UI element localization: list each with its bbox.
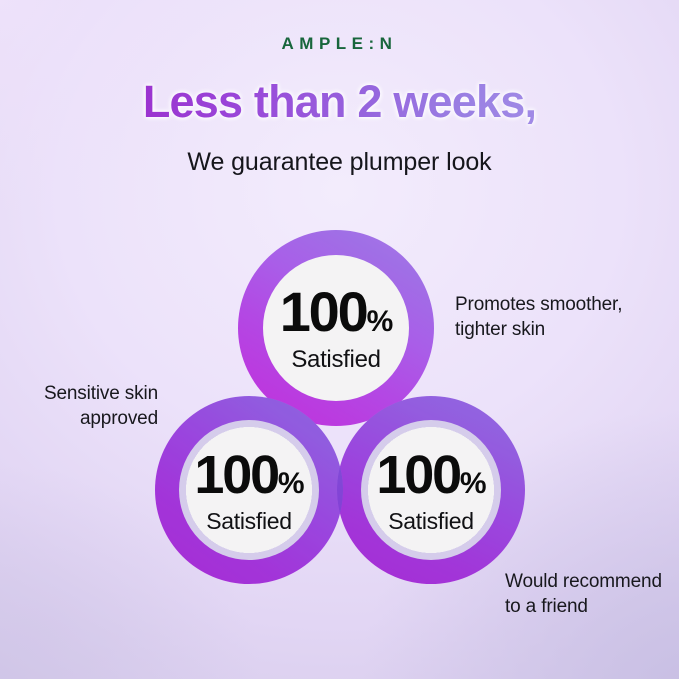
stat-label-bottom-right: Satisfied (376, 510, 485, 533)
stat-label-bottom-left: Satisfied (194, 510, 303, 533)
stat-content-top: 100% Satisfied (280, 284, 393, 372)
stat-value-bottom-right: 100% (376, 448, 485, 502)
annotation-promotes-smoother: Promotes smoother, tighter skin (455, 292, 622, 342)
stat-circle-bottom-right: 100% Satisfied (337, 396, 525, 584)
page-headline: Less than 2 weeks, (0, 78, 679, 127)
stat-content-bottom-left: 100% Satisfied (194, 448, 303, 533)
stat-circle-bottom-left: 100% Satisfied (155, 396, 343, 584)
stat-unit-bottom-left: % (278, 467, 304, 500)
stat-circle-top: 100% Satisfied (238, 230, 434, 426)
annotation-sensitive-skin: Sensitive skin approved (10, 381, 158, 431)
stat-value-top: 100% (280, 284, 393, 340)
brand-logo: AMPLE:N (0, 34, 679, 54)
stat-content-bottom-right: 100% Satisfied (376, 448, 485, 533)
headline-text: Less than 2 weeks, (143, 78, 536, 127)
annotation-would-recommend: Would recommend to a friend (505, 569, 662, 619)
stat-unit-top: % (367, 305, 393, 338)
stat-unit-bottom-right: % (460, 467, 486, 500)
stat-value-bottom-left: 100% (194, 448, 303, 502)
stat-label-top: Satisfied (280, 348, 393, 372)
page-subheadline: We guarantee plumper look (0, 148, 679, 177)
